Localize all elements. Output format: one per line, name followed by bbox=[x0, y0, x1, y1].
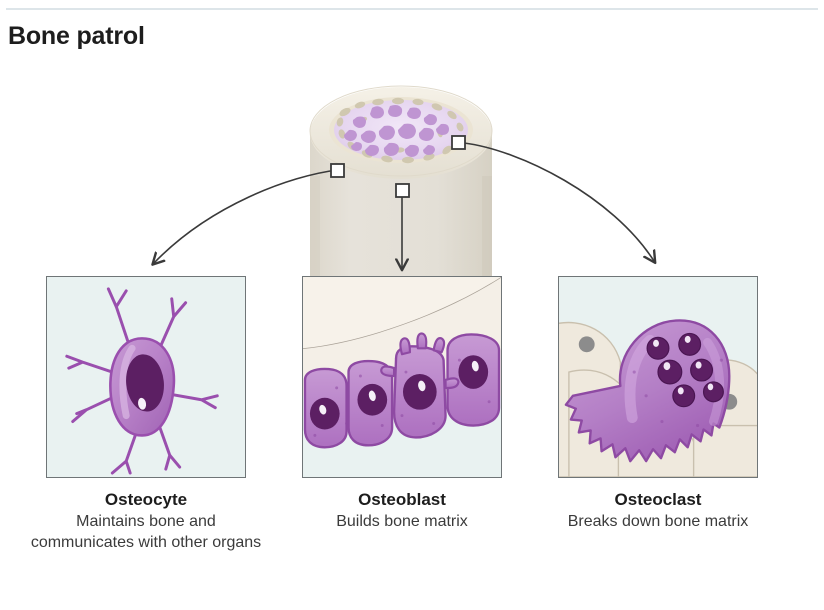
osteoblast-illustration bbox=[303, 277, 501, 477]
caption-desc-osteoclast: Breaks down bone matrix bbox=[538, 511, 778, 532]
caption-desc-osteoblast: Builds bone matrix bbox=[292, 511, 512, 532]
caption-desc-osteocyte: Maintains bone and communicates with oth… bbox=[26, 511, 266, 553]
marker-square-osteoblast bbox=[396, 184, 409, 197]
marker-square-osteoclast bbox=[452, 136, 465, 149]
marker-square-osteocyte bbox=[331, 164, 344, 177]
osteoclast-illustration bbox=[559, 277, 757, 477]
caption-osteocyte: Osteocyte Maintains bone and communicate… bbox=[26, 489, 266, 553]
caption-title-osteocyte: Osteocyte bbox=[26, 489, 266, 510]
caption-osteoblast: Osteoblast Builds bone matrix bbox=[292, 489, 512, 532]
panel-osteoclast bbox=[558, 276, 758, 478]
panel-osteocyte bbox=[46, 276, 246, 478]
connector-osteoclast-line bbox=[464, 143, 654, 261]
caption-title-osteoblast: Osteoblast bbox=[292, 489, 512, 510]
connector-osteocyte-line bbox=[154, 170, 337, 263]
bone-illustration bbox=[310, 86, 492, 280]
caption-title-osteoclast: Osteoclast bbox=[538, 489, 778, 510]
panel-osteoblast bbox=[302, 276, 502, 478]
osteocyte-illustration bbox=[47, 277, 245, 477]
caption-osteoclast: Osteoclast Breaks down bone matrix bbox=[538, 489, 778, 532]
